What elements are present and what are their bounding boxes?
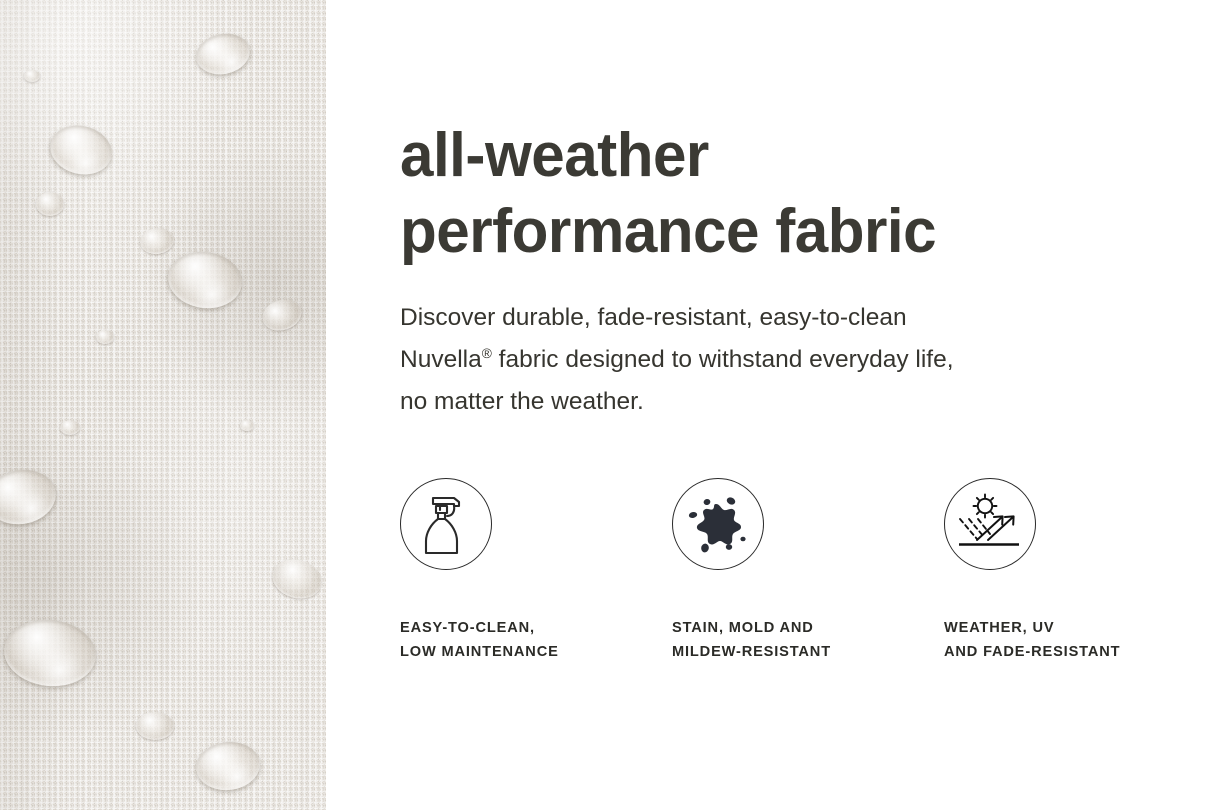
water-droplet [60, 420, 80, 435]
feature-badge [400, 478, 492, 570]
feature-badge [944, 478, 1036, 570]
content-panel: all-weather performance fabric Discover … [326, 0, 1214, 810]
water-droplet [240, 420, 254, 431]
water-droplet [36, 192, 64, 216]
sun-uv-reflect-icon [957, 493, 1023, 555]
water-droplet [96, 330, 114, 344]
stain-splat-icon [686, 493, 750, 555]
feature-caption: STAIN, MOLD AND MILDEW-RESISTANT [672, 616, 944, 664]
feature-item-uv-fade-resistant: WEATHER, UV AND FADE-RESISTANT [944, 478, 1214, 664]
registered-trademark-symbol: ® [482, 346, 492, 361]
feature-badge [672, 478, 764, 570]
fabric-promo-banner: all-weather performance fabric Discover … [0, 0, 1214, 810]
feature-caption: WEATHER, UV AND FADE-RESISTANT [944, 616, 1214, 664]
spray-bottle-icon [415, 491, 477, 557]
feature-list: EASY-TO-CLEAN, LOW MAINTENANCE [400, 478, 1200, 664]
feature-item-stain-resistant: STAIN, MOLD AND MILDEW-RESISTANT [672, 478, 944, 664]
feature-item-easy-to-clean: EASY-TO-CLEAN, LOW MAINTENANCE [400, 478, 672, 664]
fabric-photo-panel [0, 0, 326, 810]
water-droplet [24, 70, 40, 82]
feature-caption: EASY-TO-CLEAN, LOW MAINTENANCE [400, 616, 672, 664]
fabric-shading-layer [0, 0, 326, 810]
page-title: all-weather performance fabric [400, 118, 1166, 270]
subcopy-paragraph: Discover durable, fade-resistant, easy-t… [400, 297, 1140, 423]
water-droplet [136, 712, 174, 740]
